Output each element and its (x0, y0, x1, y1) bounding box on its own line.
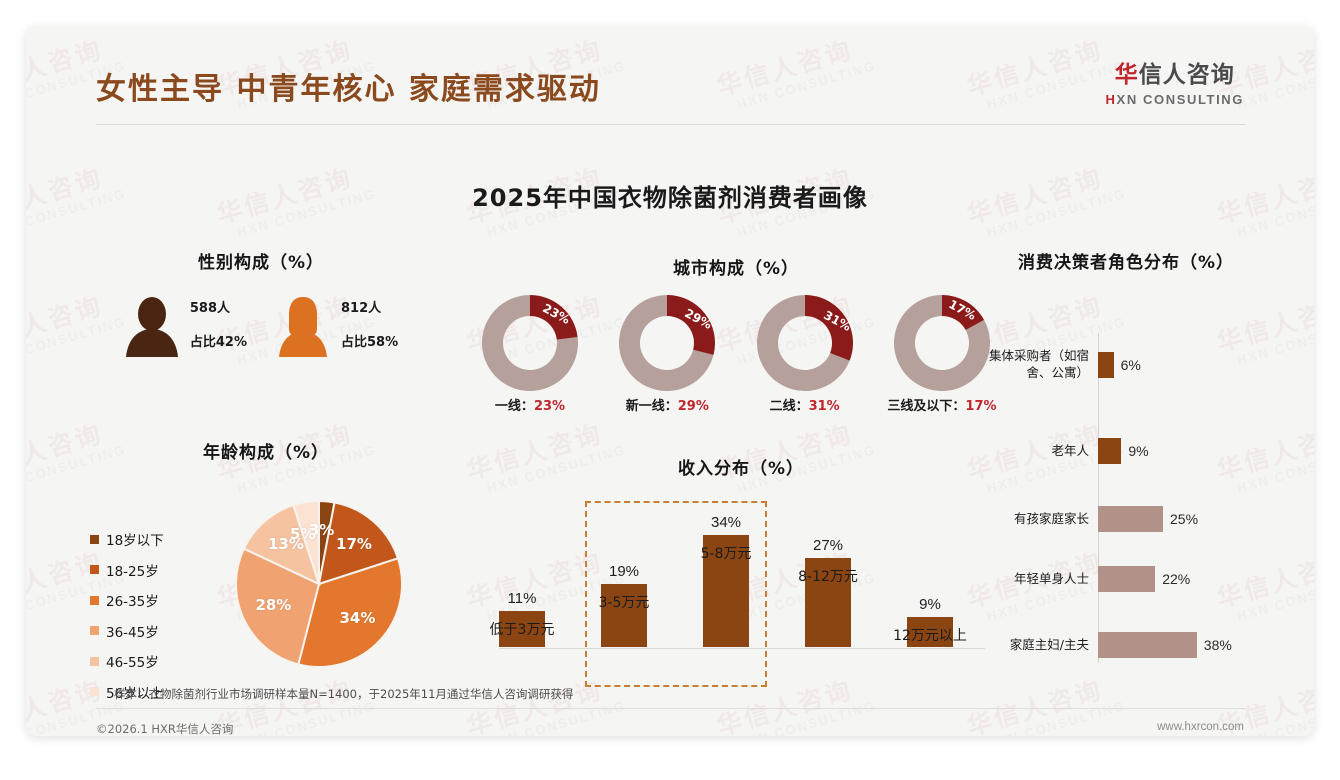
donut-row: 23%一线：23%29%新一线：29%31%二线：31%17%三线及以下：17% (466, 295, 1006, 414)
decision-value: 6% (1121, 357, 1141, 373)
city-donut-item: 23%一线：23% (470, 295, 590, 414)
donut-caption: 新一线：29% (607, 395, 727, 414)
footer-divider (96, 708, 1246, 709)
legend-swatch (90, 565, 99, 574)
donut-caption-value: 23% (534, 399, 565, 414)
gender-stats: 812人占比58% (341, 302, 398, 351)
logo-rest-chars: 信人咨询 (1139, 62, 1235, 88)
donut-chart: 29% (619, 295, 715, 391)
legend-label: 46-55岁 (106, 651, 159, 671)
decision-row: 家庭主妇/主夫38% (966, 628, 1286, 662)
decision-row: 集体采购者（如宿舍、公寓）6% (966, 348, 1286, 382)
city-donut-item: 31%二线：31% (745, 295, 865, 414)
donut-caption-value: 31% (809, 399, 840, 414)
male-silhouette-icon (124, 295, 180, 357)
decision-bar (1098, 506, 1163, 532)
legend-swatch (90, 657, 99, 666)
logo-accent-char: 华 (1115, 62, 1139, 88)
gender-item: 588人占比42% (124, 295, 247, 357)
donut-caption-value: 29% (678, 399, 709, 414)
gender-panel: 性别构成（%） 588人占比42%812人占比58% (66, 248, 456, 357)
legend-label: 18岁以下 (106, 529, 164, 549)
decision-value: 22% (1162, 571, 1190, 587)
income-panel: 收入分布（%） 11%低于3万元19%3-5万元34%5-8万元27%8-12万… (481, 454, 1001, 689)
chart-subtitle: 2025年中国衣物除菌剂消费者画像 (26, 178, 1314, 213)
decision-bar (1098, 566, 1155, 592)
gender-share: 占比42% (190, 335, 247, 350)
slide-header: 女性主导 中青年核心 家庭需求驱动 华信人咨询 HXN CONSULTING (26, 26, 1314, 126)
logo-english-text: HXN CONSULTING (1106, 92, 1244, 107)
pie-slice-label: 34% (340, 609, 376, 627)
decision-row: 有孩家庭家长25% (966, 502, 1286, 536)
donut-chart: 31% (757, 295, 853, 391)
income-highlight-box (585, 501, 767, 687)
decision-row: 年轻单身人士22% (966, 562, 1286, 596)
income-column: 9%12万元以上 (907, 617, 953, 649)
gender-count: 588人 (190, 302, 247, 316)
income-category: 12万元以上 (893, 625, 967, 645)
age-legend-item: 46-55岁 (90, 651, 164, 671)
logo-en-accent: H (1106, 92, 1117, 107)
decision-title: 消费决策者角色分布（%） (966, 248, 1286, 273)
income-column: 27%8-12万元 (805, 558, 851, 649)
copyright-text: ©2026.1 HXR华信人咨询 (96, 721, 233, 736)
age-chart: 18岁以下18-25岁26-35岁36-45岁46-55岁56岁以上 3%17%… (66, 477, 466, 667)
logo-en-rest: XN CONSULTING (1117, 92, 1244, 107)
city-donut-item: 29%新一线：29% (607, 295, 727, 414)
website-url: www.hxrcon.com (1157, 721, 1244, 733)
decision-value: 9% (1128, 443, 1148, 459)
legend-label: 18-25岁 (106, 560, 159, 580)
age-legend-item: 36-45岁 (90, 621, 164, 641)
page-title: 女性主导 中青年核心 家庭需求驱动 (96, 64, 601, 108)
gender-share: 占比58% (341, 335, 398, 350)
legend-label: 36-45岁 (106, 621, 159, 641)
decision-bar (1098, 352, 1114, 378)
sample-note: 样本：衣物除菌剂行业市场调研样本量N=1400，于2025年11月通过华信人咨询… (114, 686, 573, 702)
age-legend: 18岁以下18-25岁26-35岁36-45岁46-55岁56岁以上 (90, 529, 164, 712)
income-category: 低于3万元 (485, 619, 559, 639)
header-divider (96, 124, 1246, 125)
income-column: 11%低于3万元 (499, 611, 545, 649)
legend-label: 26-35岁 (106, 590, 159, 610)
pie-slice-label: 5% (290, 525, 315, 543)
age-panel: 年龄构成（%） 18岁以下18-25岁26-35岁36-45岁46-55岁56岁… (66, 438, 466, 667)
legend-swatch (90, 596, 99, 605)
age-title: 年龄构成（%） (66, 438, 466, 463)
income-chart: 11%低于3万元19%3-5万元34%5-8万元27%8-12万元9%12万元以… (481, 499, 1001, 689)
gender-stats: 588人占比42% (190, 302, 247, 351)
income-value: 11% (499, 590, 545, 607)
donut-chart: 23% (482, 295, 578, 391)
income-title: 收入分布（%） (481, 454, 1001, 479)
decision-chart: 集体采购者（如宿舍、公寓）6%老年人9%有孩家庭家长25%年轻单身人士22%家庭… (966, 313, 1286, 673)
pie-slice-label: 17% (336, 535, 372, 553)
gender-row: 588人占比42%812人占比58% (66, 295, 456, 357)
age-legend-item: 18-25岁 (90, 560, 164, 580)
income-value: 27% (805, 537, 851, 554)
age-legend-item: 26-35岁 (90, 590, 164, 610)
donut-caption: 一线：23% (470, 395, 590, 414)
gender-title: 性别构成（%） (66, 248, 456, 273)
decision-label: 集体采购者（如宿舍、公寓） (966, 348, 1094, 382)
decision-bar (1098, 632, 1197, 658)
decision-panel: 消费决策者角色分布（%） 集体采购者（如宿舍、公寓）6%老年人9%有孩家庭家长2… (966, 248, 1286, 673)
logo-chinese-text: 华信人咨询 (1106, 64, 1244, 87)
decision-axis-line (1098, 333, 1099, 663)
legend-swatch (90, 535, 99, 544)
income-value: 9% (907, 596, 953, 613)
company-logo: 华信人咨询 HXN CONSULTING (1106, 64, 1244, 107)
decision-value: 38% (1204, 637, 1232, 653)
gender-count: 812人 (341, 302, 398, 316)
decision-value: 25% (1170, 511, 1198, 527)
slide-card: 华信人咨询HXN CONSULTING华信人咨询HXN CONSULTING华信… (26, 26, 1314, 736)
gender-item: 812人占比58% (275, 295, 398, 357)
city-title: 城市构成（%） (466, 254, 1006, 279)
decision-bar (1098, 438, 1121, 464)
age-legend-item: 18岁以下 (90, 529, 164, 549)
legend-swatch (90, 687, 99, 696)
income-category: 8-12万元 (791, 566, 865, 586)
female-silhouette-icon (275, 295, 331, 357)
donut-caption: 二线：31% (745, 395, 865, 414)
decision-row: 老年人9% (966, 434, 1286, 468)
age-pie: 3%17%34%28%13%5% (234, 499, 404, 669)
pie-slice-label: 28% (255, 596, 291, 614)
city-panel: 城市构成（%） 23%一线：23%29%新一线：29%31%二线：31%17%三… (466, 254, 1006, 414)
legend-swatch (90, 626, 99, 635)
